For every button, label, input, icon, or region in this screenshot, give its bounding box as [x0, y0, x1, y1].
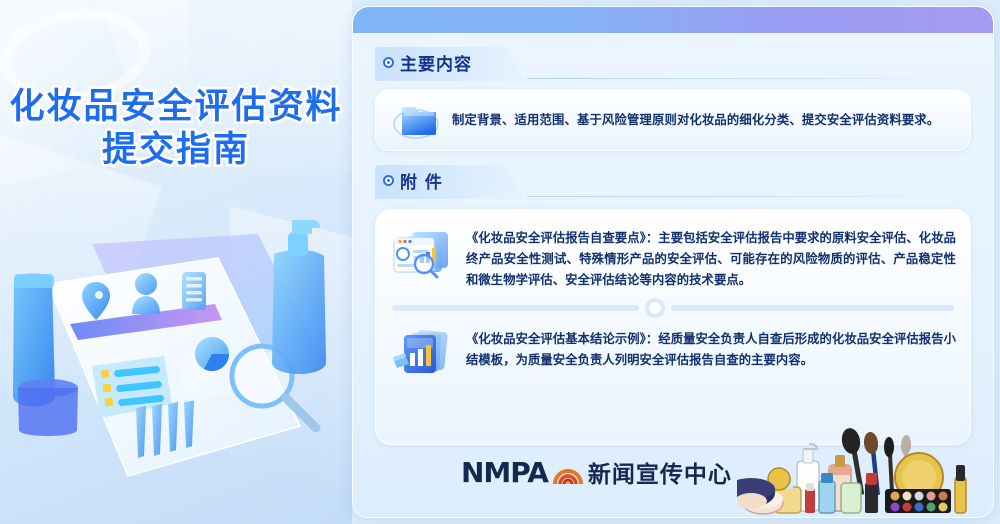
attachment-text-1: 《化妆品安全评估报告自查要点》：主要包括安全评估报告中要求的原料安全评估、化妆品…	[466, 226, 956, 291]
left-illustration-pane: 化妆品安全评估资料 提交指南	[0, 0, 352, 524]
main-content-panel: 主要内容 制定背景、适用范围、基于风险管理原则对化妆品的细化分	[352, 6, 994, 518]
attachment-divider	[392, 297, 954, 319]
section-header-attachments: 附 件	[375, 165, 971, 205]
title-line-1: 化妆品安全评估资料	[0, 86, 352, 128]
folder-icon	[392, 97, 446, 143]
title-line-2: 提交指南	[0, 128, 352, 172]
document-search-icon	[390, 226, 454, 282]
nmpa-wordmark: NMPA	[461, 456, 548, 489]
attachment-text-2: 《化妆品安全评估基本结论示例》：经质量安全负责人自查后形成的化妆品安全评估报告小…	[466, 327, 956, 371]
main-content-card: 制定背景、适用范围、基于风险管理原则对化妆品的细化分类、提交安全评估资料要求。	[375, 89, 971, 151]
panel-top-bar	[353, 7, 993, 33]
section-underline	[527, 78, 953, 79]
divider-bar-right	[671, 305, 954, 311]
nmpa-arch-logo-icon	[553, 458, 583, 486]
panel-footer: NMPA 新闻宣传中心	[353, 427, 993, 518]
divider-ring-icon	[645, 298, 665, 318]
section-title-main-content: 主要内容	[400, 50, 472, 75]
section-title-attachments: 附 件	[400, 168, 443, 193]
attachment-item-2: 《化妆品安全评估基本结论示例》：经质量安全负责人自查后形成的化妆品安全评估报告小…	[390, 319, 956, 379]
ring-bullet-icon	[383, 175, 394, 186]
attachment-item-1: 《化妆品安全评估报告自查要点》：主要包括安全评估报告中要求的原料安全评估、化妆品…	[390, 220, 956, 291]
section-header-main-content: 主要内容	[375, 47, 971, 87]
attachments-card: 《化妆品安全评估报告自查要点》：主要包括安全评估报告中要求的原料安全评估、化妆品…	[375, 209, 971, 445]
ring-bullet-icon	[383, 57, 394, 68]
divider-bar-left	[392, 305, 639, 311]
nmpa-brand: NMPA 新闻宣传中心	[461, 455, 732, 489]
cosmetics-products-icon	[737, 417, 987, 517]
section-underline	[527, 196, 953, 197]
report-chart-icon	[390, 327, 454, 379]
page-title: 化妆品安全评估资料 提交指南	[0, 86, 352, 172]
cosmetics-desk-illustration	[0, 196, 352, 524]
main-content-text: 制定背景、适用范围、基于风险管理原则对化妆品的细化分类、提交安全评估资料要求。	[452, 111, 939, 129]
nmpa-center-name: 新闻宣传中心	[588, 455, 732, 489]
